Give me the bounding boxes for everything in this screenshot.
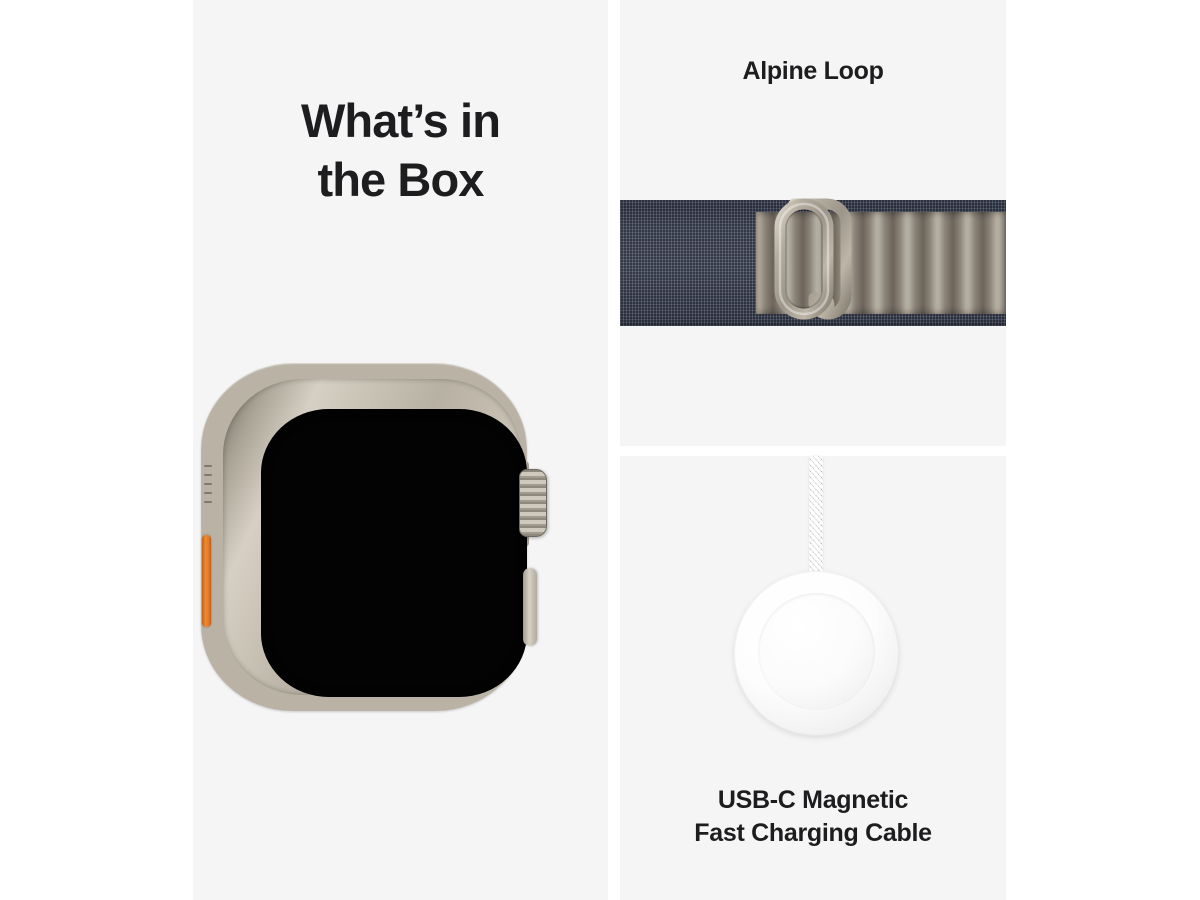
watch-bezel (223, 379, 521, 695)
charger-puck-inner-disc (758, 593, 875, 710)
alpine-loop-caption-text: Alpine Loop (620, 55, 1006, 88)
charging-cable-caption: USB-C Magnetic Fast Charging Cable (620, 784, 1006, 850)
watch-display (261, 409, 527, 697)
speaker-grille-icon (204, 465, 213, 503)
side-button[interactable] (523, 568, 537, 646)
alpine-loop-caption: Alpine Loop (620, 55, 1006, 88)
product-gallery-image: What’s in the Box Alpine Loop (0, 0, 1200, 900)
charger-braided-cable (809, 456, 823, 590)
alpine-loop-band (620, 200, 1006, 326)
page-title: What’s in the Box (193, 92, 608, 210)
action-button[interactable] (202, 535, 211, 627)
g-hook-buckle-icon (772, 198, 854, 328)
charging-cable-caption-line-1: USB-C Magnetic (620, 784, 1006, 817)
apple-watch-ultra-case (193, 363, 543, 711)
page-title-line-2: the Box (193, 151, 608, 210)
digital-crown[interactable] (519, 469, 547, 537)
page-title-line-1: What’s in (193, 92, 608, 151)
watch-titanium-case (201, 363, 527, 711)
charging-cable-caption-line-2: Fast Charging Cable (620, 817, 1006, 850)
charger-puck (734, 571, 899, 736)
usb-c-magnetic-charger (620, 456, 1006, 766)
